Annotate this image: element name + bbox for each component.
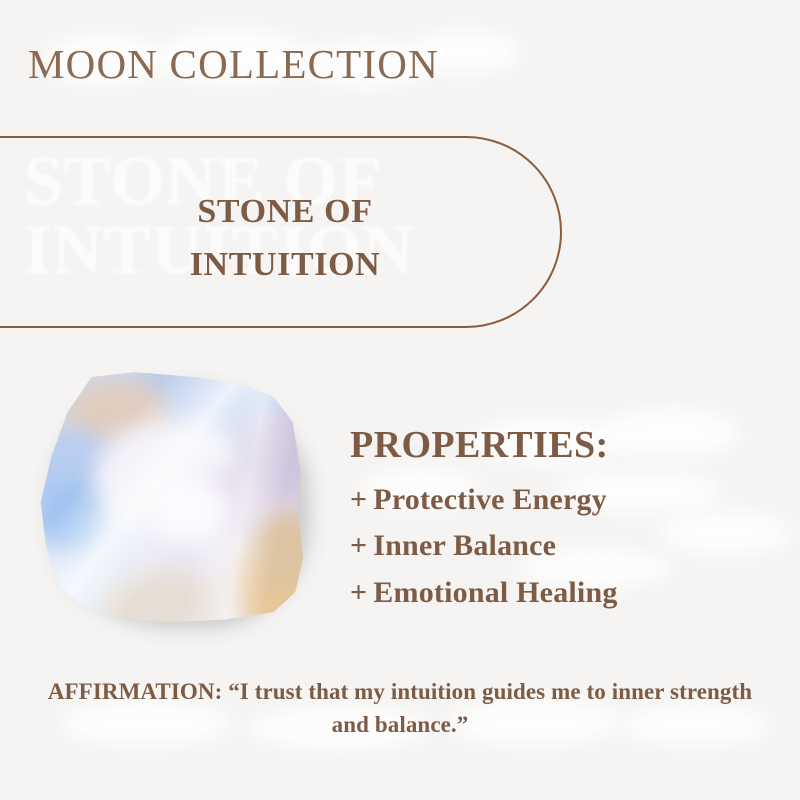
crystal-product-card: MOON COLLECTION STONE OF INTUITION STONE…	[0, 0, 800, 800]
crystal-facet	[238, 406, 306, 496]
plus-icon: +	[350, 570, 367, 617]
property-item: +Protective Energy	[350, 477, 770, 524]
crystal-image	[38, 372, 314, 630]
page-title: MOON COLLECTION	[28, 44, 439, 85]
property-label: Protective Energy	[373, 483, 607, 516]
properties-section: PROPERTIES: +Protective Energy +Inner Ba…	[350, 424, 770, 616]
affirmation-text: AFFIRMATION: “I trust that my intuition …	[32, 676, 768, 741]
badge-title: STONE OF INTUITION	[150, 186, 420, 291]
plus-icon: +	[350, 477, 367, 524]
crystal-facet	[158, 482, 228, 542]
moonstone-specimen	[38, 372, 306, 622]
crystal-facet	[98, 572, 228, 622]
property-label: Inner Balance	[373, 529, 556, 562]
plus-icon: +	[350, 523, 367, 570]
property-item: +Emotional Healing	[350, 570, 770, 617]
crystal-facet	[42, 484, 102, 554]
crystal-facet	[252, 512, 306, 582]
properties-heading: PROPERTIES:	[350, 424, 770, 467]
property-label: Emotional Healing	[373, 576, 617, 609]
property-item: +Inner Balance	[350, 523, 770, 570]
